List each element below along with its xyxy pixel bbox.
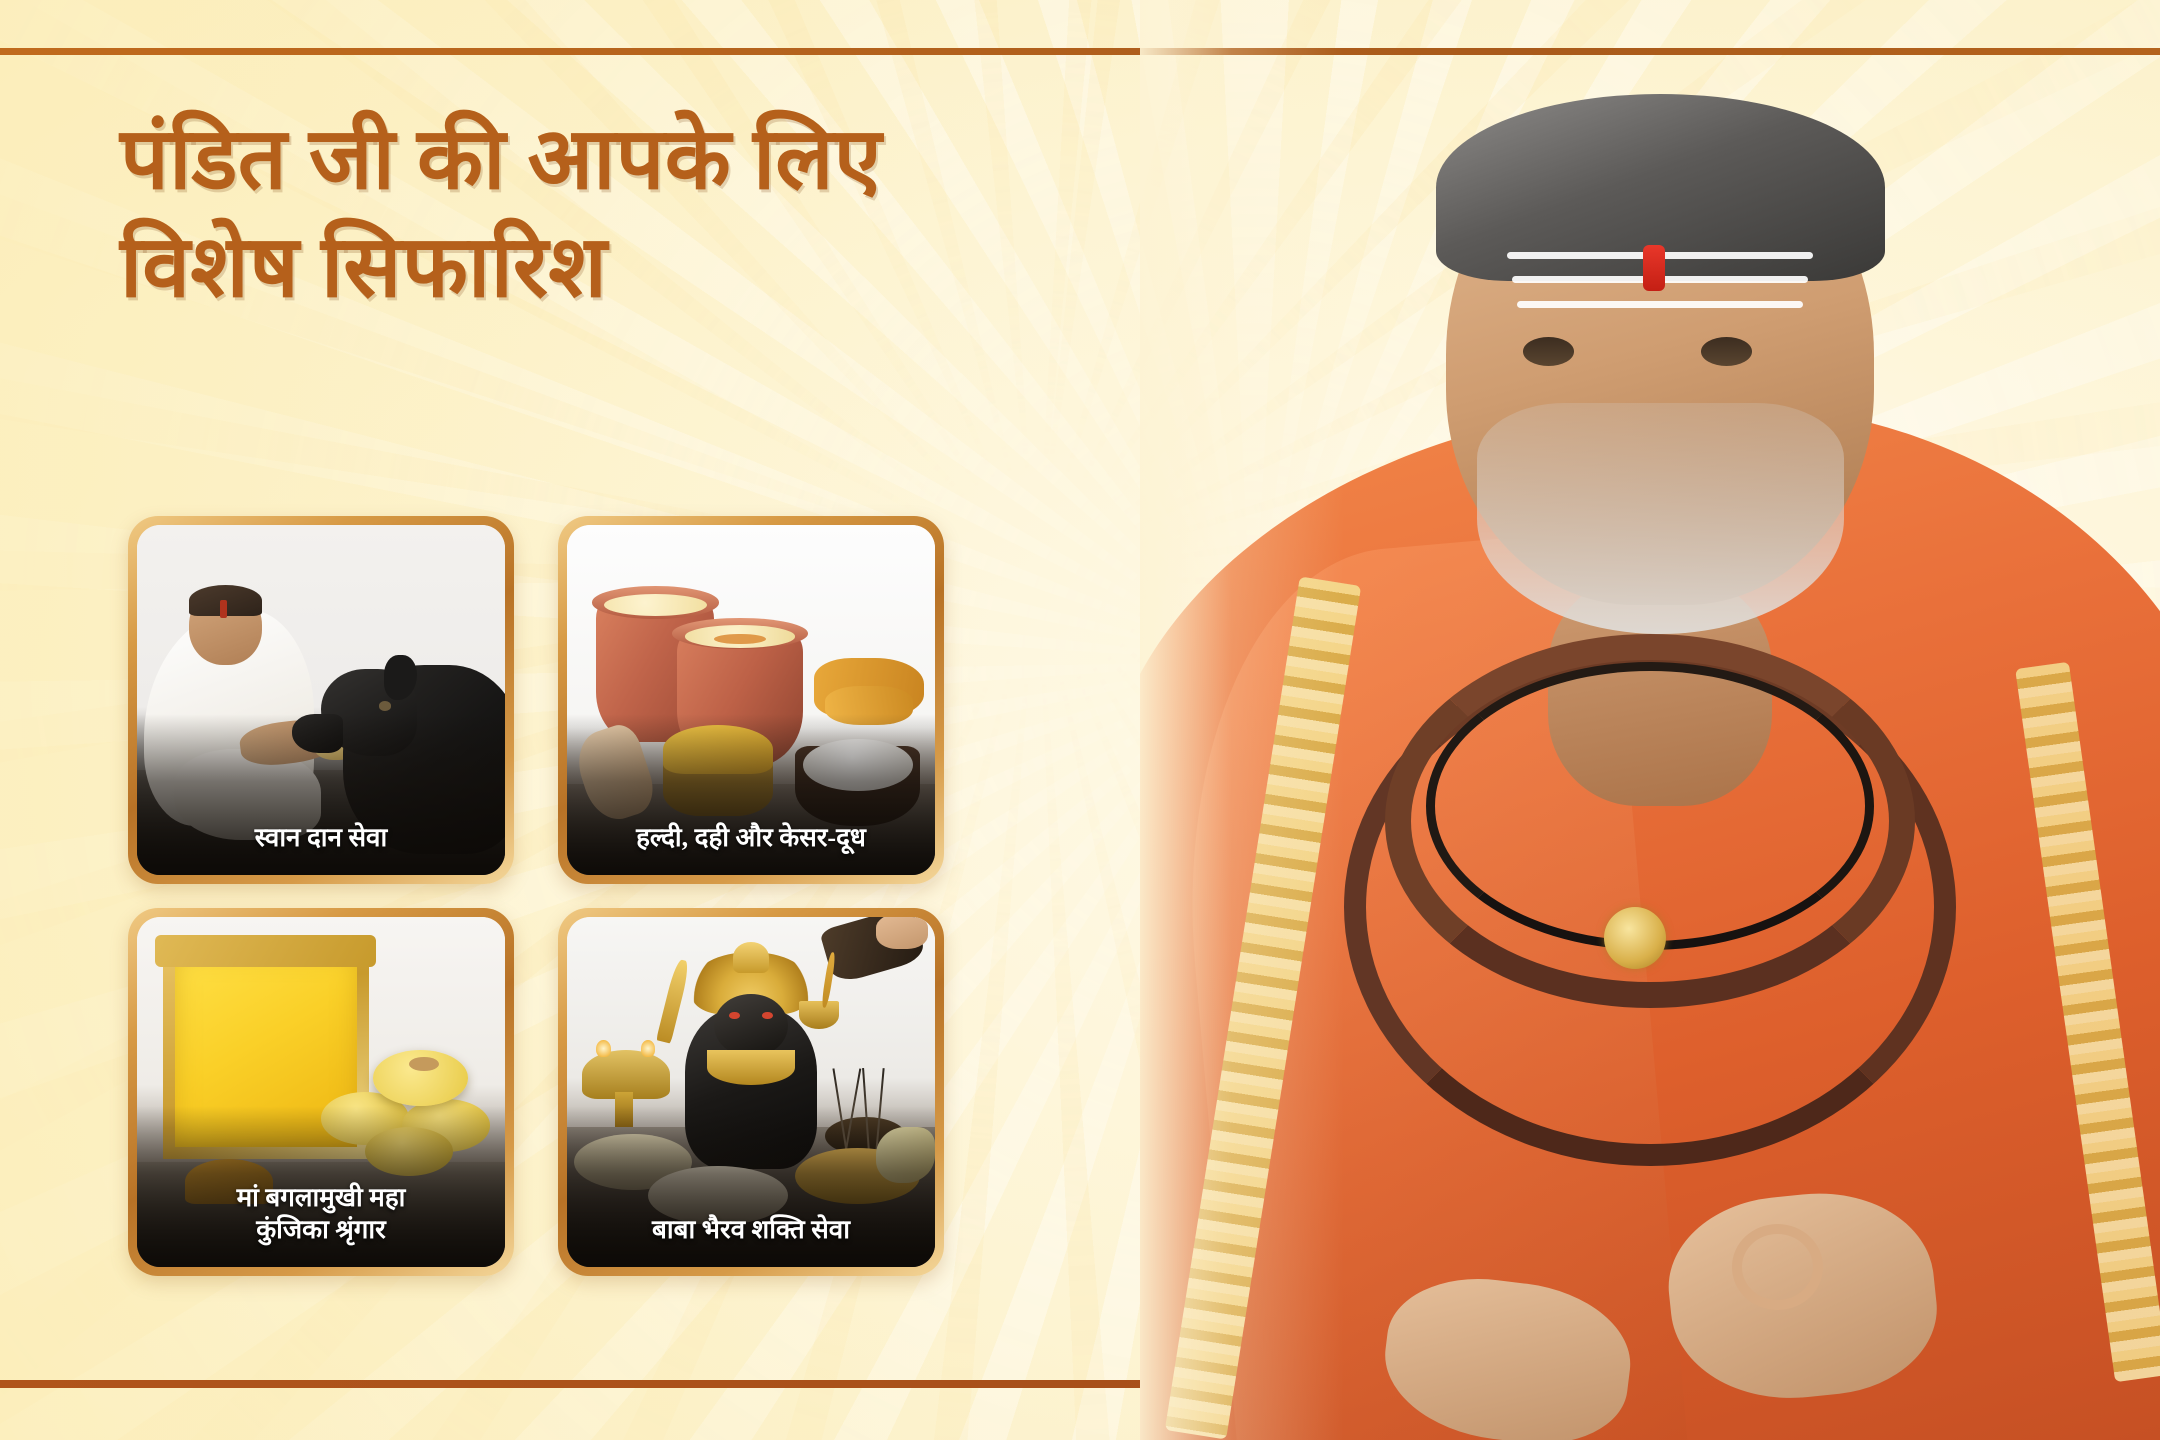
pandit-ji-portrait <box>1140 0 2160 1440</box>
chin-mudra-gesture <box>1732 1224 1824 1310</box>
gold-pendant <box>1604 907 1666 969</box>
recommendation-card-1[interactable]: स्वान दान सेवा <box>128 516 514 884</box>
card-3-caption: मां बगलामुखी महा कुंजिका श्रृंगार <box>145 1182 497 1248</box>
portrait-beard <box>1477 403 1844 633</box>
recommendation-card-2[interactable]: हल्दी, दही और केसर-दूध <box>558 516 944 884</box>
recommendation-card-3[interactable]: मां बगलामुखी महा कुंजिका श्रृंगार <box>128 908 514 1276</box>
red-tilak-bindi <box>1643 245 1665 291</box>
black-bead-mala <box>1426 662 1875 950</box>
promo-banner: पंडित जी की आपके लिए विशेष सिफारिश <box>0 0 2160 1440</box>
page-title: पंडित जी की आपके लिए विशेष सिफारिश <box>120 105 1300 322</box>
card-1-caption: स्वान दान सेवा <box>145 822 497 855</box>
portrait-eye-right <box>1701 337 1752 366</box>
card-2-inner: हल्दी, दही और केसर-दूध <box>567 525 935 875</box>
recommendation-card-4[interactable]: बाबा भैरव शक्ति सेवा <box>558 908 944 1276</box>
card-4-caption: बाबा भैरव शक्ति सेवा <box>575 1214 927 1247</box>
tripundra-tilak-line-3 <box>1517 301 1803 308</box>
card-1-inner: स्वान दान सेवा <box>137 525 505 875</box>
recommendation-card-grid: स्वान दान सेवा <box>128 516 958 1276</box>
card-4-inner: बाबा भैरव शक्ति सेवा <box>567 917 935 1267</box>
page-title-line-2: विशेष सिफारिश <box>120 213 1300 321</box>
portrait-eye-left <box>1523 337 1574 366</box>
card-3-inner: मां बगलामुखी महा कुंजिका श्रृंगार <box>137 917 505 1267</box>
page-title-line-1: पंडित जी की आपके लिए <box>120 105 1300 213</box>
card-2-caption: हल्दी, दही और केसर-दूध <box>575 822 927 855</box>
